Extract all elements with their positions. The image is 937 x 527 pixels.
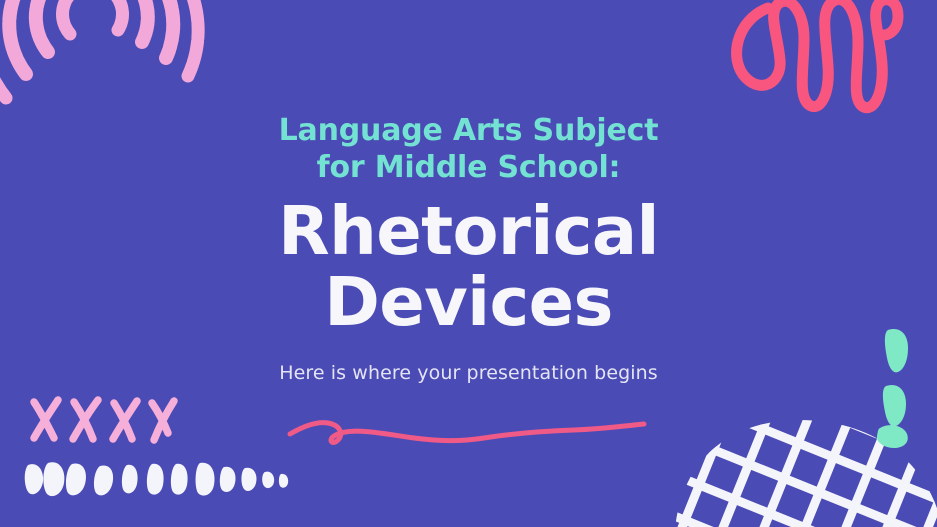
slide-text-block: Language Arts Subject for Middle School:… [0, 0, 937, 527]
presentation-slide: Language Arts Subject for Middle School:… [0, 0, 937, 527]
slide-title: Rhetorical Devices [278, 196, 659, 338]
slide-tagline: Here is where your presentation begins [279, 362, 658, 384]
slide-subtitle: Language Arts Subject for Middle School: [279, 113, 659, 186]
